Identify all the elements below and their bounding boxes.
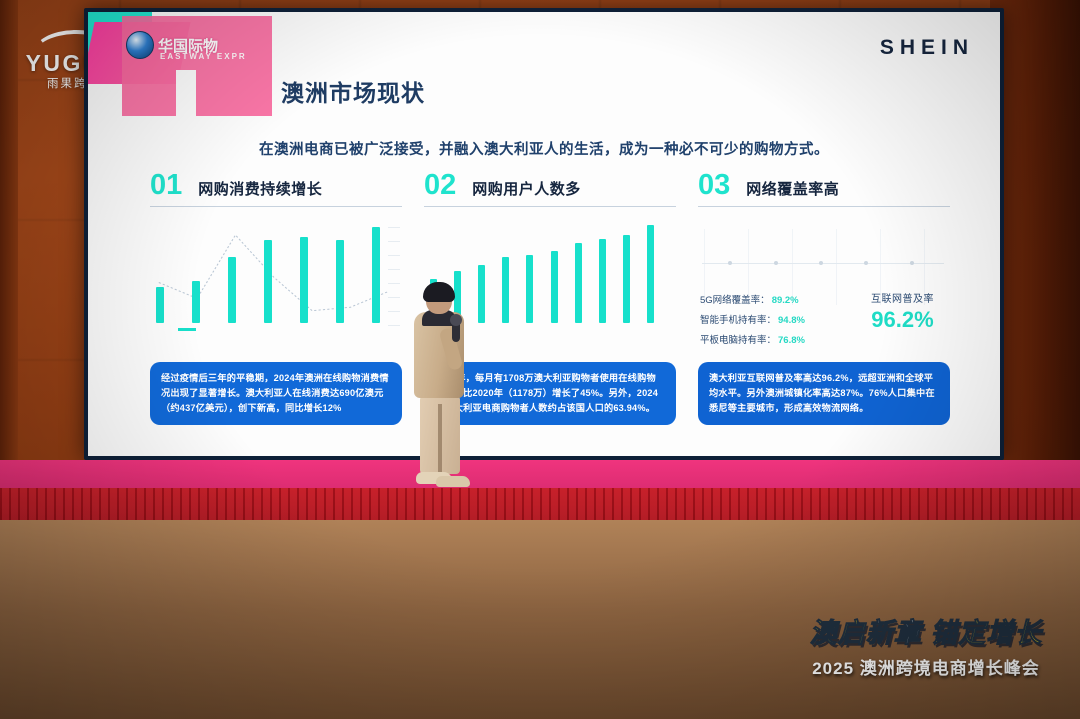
stat-label: 智能手机持有率： <box>700 315 776 326</box>
callout-03: 澳大利亚互联网普及率高达96.2%，远超亚洲和全球平均水平。另外澳洲城镇化率高达… <box>698 362 950 425</box>
event-headline: 澳启新章 锚定增长 <box>792 620 1060 647</box>
highlight-label: 互联网普及率 <box>871 290 934 305</box>
stat-row: 5G网络覆盖率：89.2% <box>700 292 805 306</box>
speaker-hair <box>423 282 455 302</box>
bar <box>502 257 509 323</box>
event-subtitle: 2025 澳洲跨境电商增长峰会 <box>812 654 1040 679</box>
globe-icon <box>126 31 154 59</box>
microphone-icon <box>452 320 460 342</box>
shein-logo: SHEIN <box>880 36 974 60</box>
event-headline-part-3: 锚定 <box>930 618 986 648</box>
section-03-header: 03 网络覆盖率高 <box>698 172 950 207</box>
section-01-number: 01 <box>150 172 182 198</box>
event-headline-part-1: 澳启 <box>810 618 866 648</box>
bar <box>228 257 236 323</box>
projection-screen: 华国际物 EASTWAY EXPR SHEIN 澳洲市场现状 在澳洲电商已被广泛… <box>84 8 1004 460</box>
event-headline-part-2: 新章 <box>866 618 922 648</box>
stat-value: 76.8% <box>778 335 805 346</box>
decoration-pink-notch <box>176 70 196 116</box>
stat-value: 94.8% <box>778 315 805 326</box>
bar <box>478 265 485 323</box>
conference-photo: YUGUO 雨果跨境 华国际物 EASTWAY EXPR SHEIN 澳洲市场现… <box>0 0 1080 719</box>
bar <box>575 243 582 323</box>
callout-01: 经过疫情后三年的平稳期，2024年澳洲在线购物消费情况出现了显著增长。澳大利亚人… <box>150 362 402 425</box>
section-01-title: 网购消费持续增长 <box>198 178 322 199</box>
chart-01 <box>150 223 402 331</box>
internet-penetration-highlight: 互联网普及率 96.2% <box>871 290 934 333</box>
slide-subtitle: 在澳洲电商已被广泛接受，并融入澳大利亚人的生活，成为一种必不可少的购物方式。 <box>88 138 1000 159</box>
slide-callouts: 经过疫情后三年的平稳期，2024年澳洲在线购物消费情况出现了显著增长。澳大利亚人… <box>150 362 950 425</box>
bar <box>551 251 558 323</box>
bar <box>336 240 344 323</box>
event-branding: 澳启新章 锚定增长 2025 澳洲跨境电商增长峰会 <box>792 620 1060 679</box>
highlight-value: 96.2% <box>871 307 934 333</box>
bar <box>526 255 533 323</box>
section-01-header: 01 网购消费持续增长 <box>150 172 402 207</box>
stat-row: 智能手机持有率：94.8% <box>700 312 805 326</box>
bar <box>300 237 308 323</box>
slide-title: 澳洲市场现状 <box>281 74 425 108</box>
stat-row: 平板电脑持有率：76.8% <box>700 332 805 346</box>
chart-03-point <box>774 261 778 265</box>
bar <box>372 227 380 323</box>
stat-value: 89.2% <box>772 295 799 306</box>
network-stats-list: 5G网络覆盖率：89.2% 智能手机持有率：94.8% 平板电脑持有率：76.8… <box>700 292 805 352</box>
chart-01-underline <box>178 328 196 331</box>
stat-label: 5G网络覆盖率： <box>700 295 770 306</box>
bar <box>192 281 200 323</box>
chart-03-point <box>910 261 914 265</box>
partner-logo-subtext: EASTWAY EXPR <box>160 52 247 61</box>
section-03-number: 03 <box>698 172 730 198</box>
section-02-title: 网购用户人数多 <box>472 178 581 199</box>
bar <box>647 225 654 323</box>
bar <box>623 235 630 323</box>
chart-03-line <box>702 263 944 264</box>
chart-03-point <box>819 261 823 265</box>
presentation-slide: 华国际物 EASTWAY EXPR SHEIN 澳洲市场现状 在澳洲电商已被广泛… <box>88 12 1000 456</box>
stat-label: 平板电脑持有率： <box>700 335 776 346</box>
event-headline-part-4: 增长 <box>986 618 1042 648</box>
section-02-number: 02 <box>424 172 456 198</box>
chart-01-bars <box>156 223 380 323</box>
bar <box>264 240 272 323</box>
bar <box>599 239 606 323</box>
section-02-header: 02 网购用户人数多 <box>424 172 676 207</box>
bar <box>156 287 164 323</box>
section-03-title: 网络覆盖率高 <box>746 178 839 199</box>
